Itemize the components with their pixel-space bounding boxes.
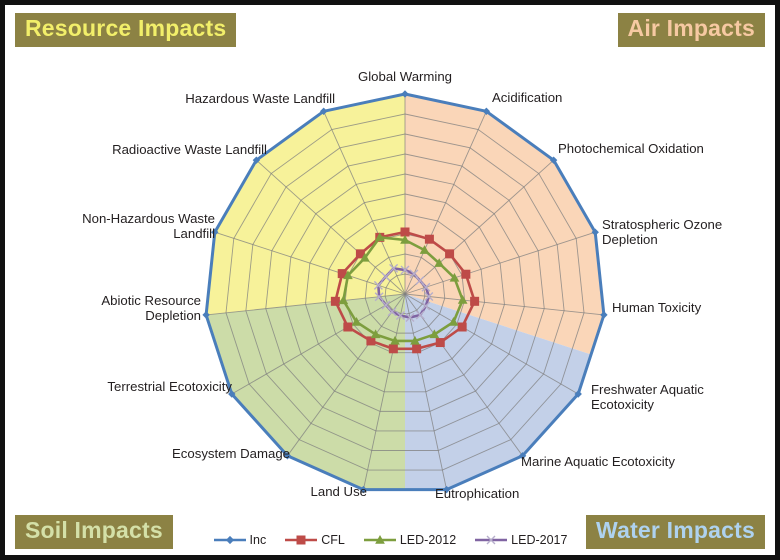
marker-square [425, 235, 433, 243]
marker-square [413, 345, 421, 353]
legend-marker-x-icon [474, 533, 508, 547]
marker-square [401, 228, 409, 236]
legend-label: LED-2017 [510, 533, 567, 547]
marker-square [446, 250, 454, 258]
marker-square [331, 297, 339, 305]
marker-square [458, 323, 466, 331]
chart-legend: IncCFLLED-2012LED-2017 [5, 533, 775, 547]
legend-marker-square-icon [284, 533, 318, 547]
marker-square [436, 339, 444, 347]
marker-square [389, 345, 397, 353]
marker-square [462, 270, 470, 278]
legend-marker-triangle-icon [363, 533, 397, 547]
legend-label: Inc [249, 533, 267, 547]
legend-label: LED-2012 [399, 533, 456, 547]
marker-diamond [226, 537, 233, 544]
marker-square [471, 297, 479, 305]
marker-square [344, 323, 352, 331]
legend-item-led-2017[interactable]: LED-2017 [474, 533, 567, 547]
legend-item-led-2012[interactable]: LED-2012 [363, 533, 456, 547]
legend-marker-diamond-icon [213, 533, 247, 547]
legend-label: CFL [320, 533, 345, 547]
legend-item-inc[interactable]: Inc [213, 533, 267, 547]
radar-chart-surface [5, 5, 775, 555]
marker-square [297, 536, 305, 544]
badge-resource-impacts: Resource Impacts [15, 13, 236, 47]
chart-figure: Global WarmingAcidificationPhotochemical… [0, 0, 780, 560]
badge-air-impacts: Air Impacts [618, 13, 765, 47]
legend-item-cfl[interactable]: CFL [284, 533, 345, 547]
radar-chart-svg [5, 5, 780, 560]
